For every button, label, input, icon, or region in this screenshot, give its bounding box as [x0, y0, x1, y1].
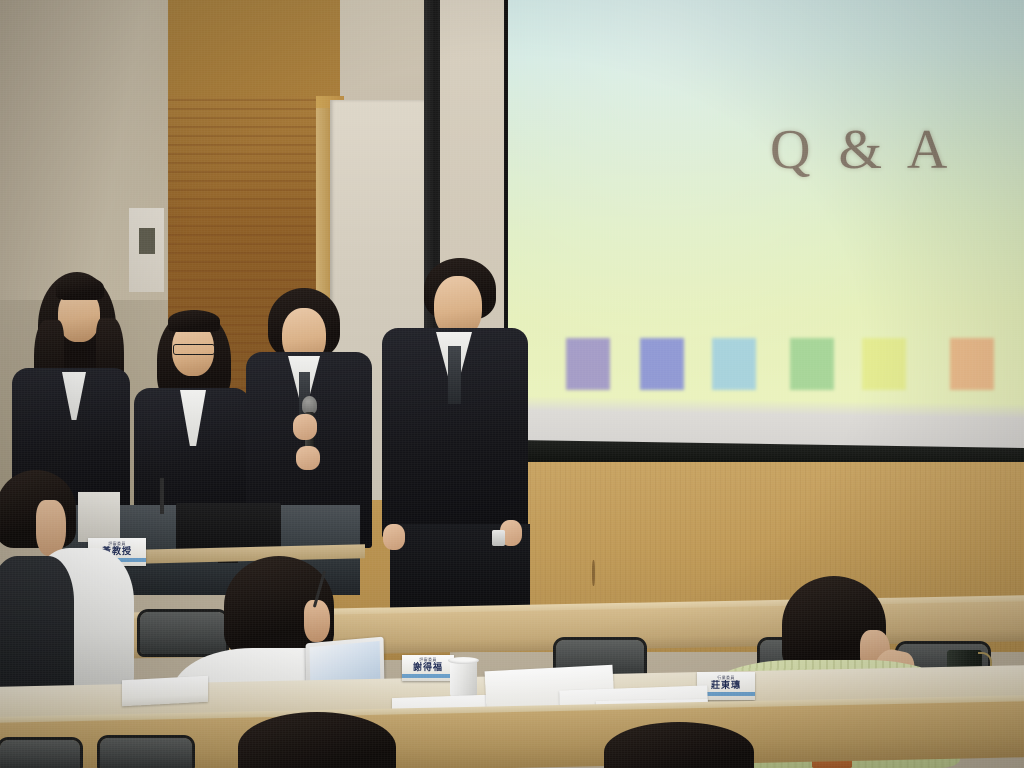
podium-side-panel — [78, 492, 120, 542]
paper-cup-rim — [448, 657, 479, 664]
paper-sheet — [122, 676, 208, 707]
presentation-room-photo: Q & A — [0, 0, 1024, 768]
wall-scuff-mark — [592, 560, 595, 586]
slide-swatch-purple — [566, 338, 610, 390]
wall-notice-plate-icon — [139, 228, 155, 254]
paper-cup[interactable] — [450, 659, 477, 700]
audience-left-vest — [0, 556, 74, 706]
presenter-3-hand-upper — [293, 414, 317, 440]
placard-center-name: 謝得福 — [413, 663, 443, 672]
slide-swatch-light-blue — [712, 338, 756, 390]
audience-left-ear-neck — [36, 500, 66, 556]
slide-title: Q & A — [770, 118, 954, 182]
slide-swatch-orange — [950, 338, 994, 390]
presenter-3-hand-lower — [296, 446, 320, 470]
slide-swatch-blue-violet — [640, 338, 684, 390]
placard-right-name: 莊東璤 — [711, 681, 741, 690]
eyeglasses-icon — [173, 344, 215, 355]
presenter-1-bangs — [56, 276, 104, 300]
slide-swatch-yellow — [862, 338, 906, 390]
name-placard-center: 評審委員 謝得福 — [402, 655, 454, 681]
chair[interactable] — [0, 740, 80, 768]
presentation-remote[interactable] — [492, 530, 505, 546]
presenter-2-bangs — [168, 310, 220, 332]
chair[interactable] — [100, 738, 192, 768]
audience-center-ear — [304, 600, 330, 642]
presenter-4-hand-left — [383, 524, 405, 550]
gooseneck-mic-stand — [160, 478, 164, 514]
presenter-4-tie — [448, 346, 461, 404]
placard-center-accent-bar — [402, 674, 454, 678]
wood-wall-panel-top — [168, 0, 340, 96]
chair[interactable] — [140, 612, 226, 654]
slide-swatch-green — [790, 338, 834, 390]
